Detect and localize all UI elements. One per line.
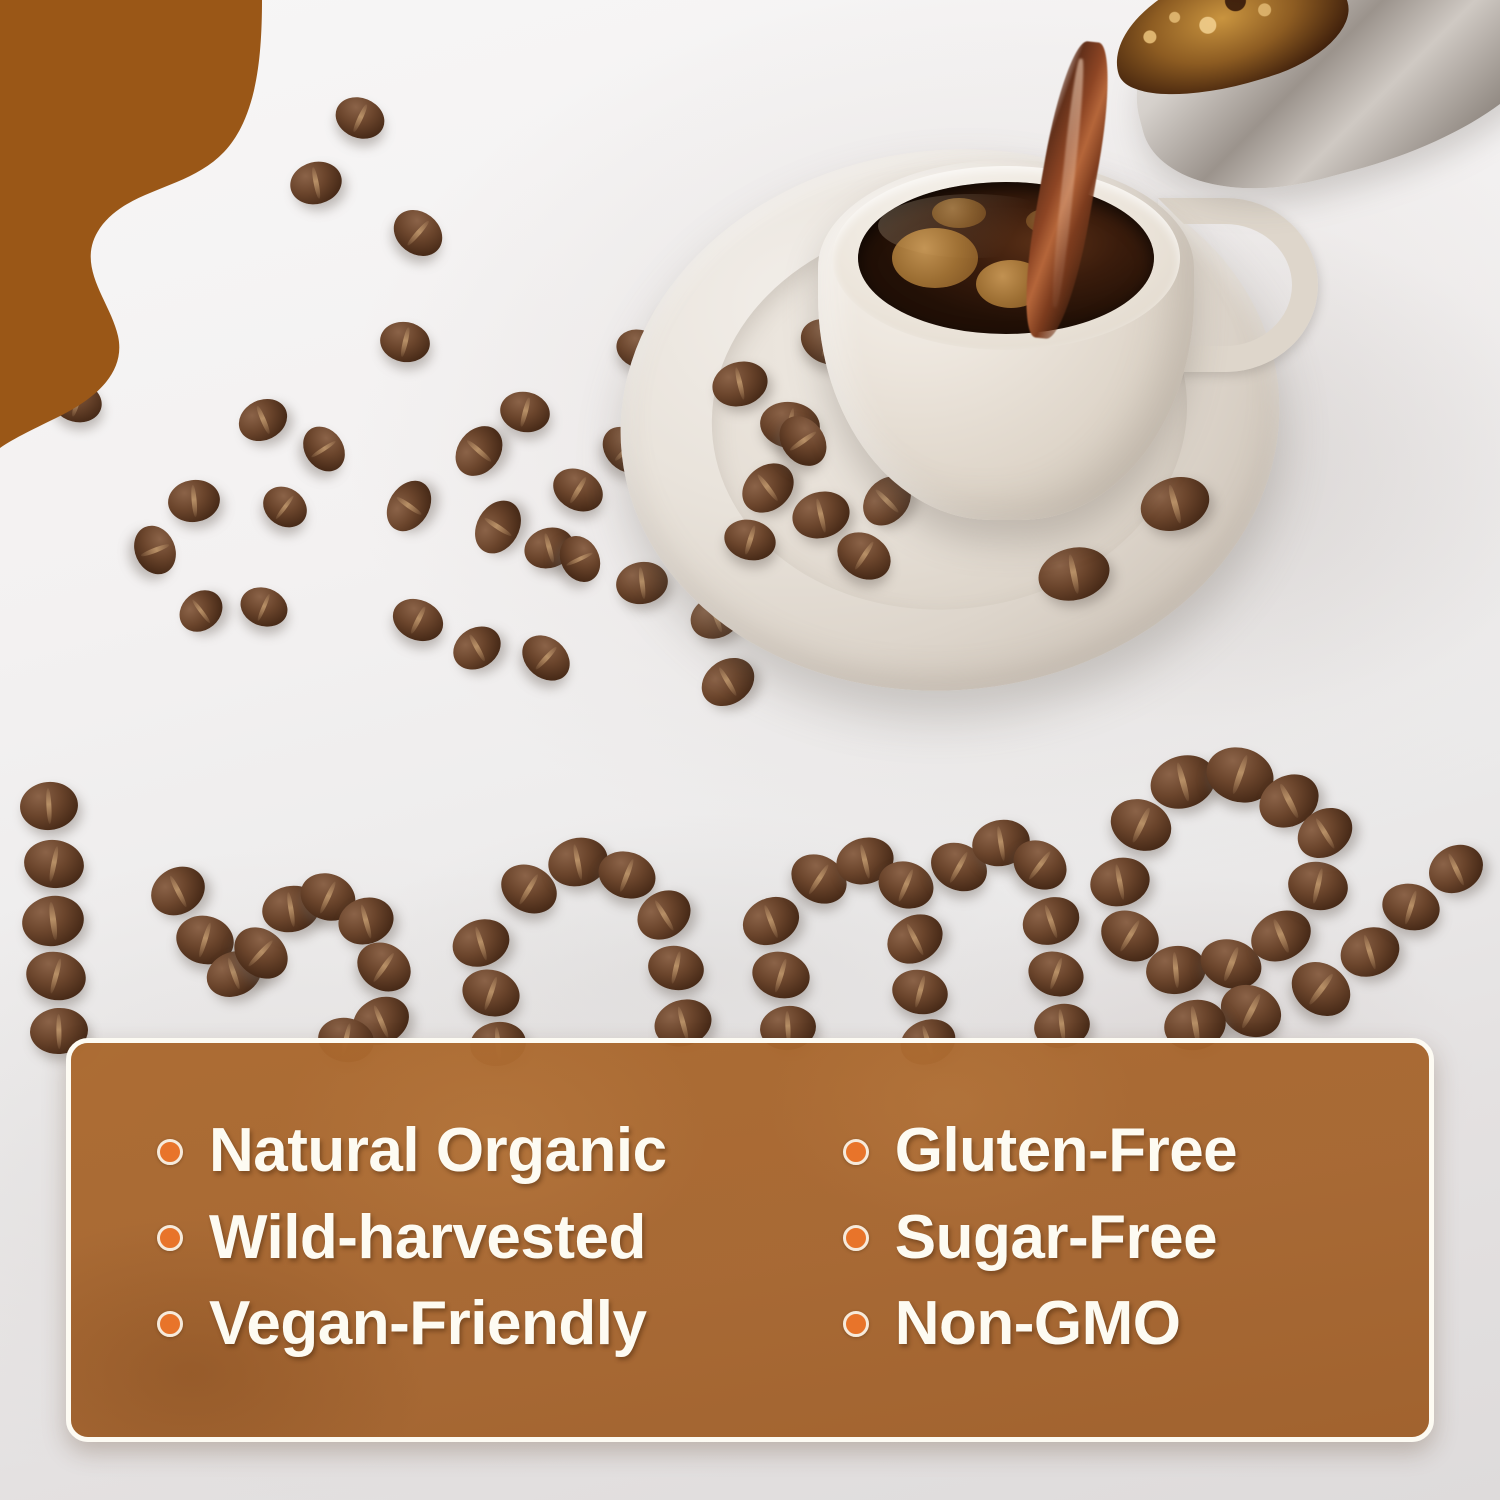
brown-wave-blob-icon [0, 0, 300, 460]
left-column: Natural Organic Wild-harvested Vegan-Fri… [71, 1119, 791, 1356]
feature-label: Natural Organic [209, 1119, 667, 1183]
crema-foam [932, 198, 986, 228]
feature-panel: Natural Organic Wild-harvested Vegan-Fri… [66, 1038, 1434, 1442]
feature-label: Vegan-Friendly [209, 1292, 646, 1356]
feature-label: Non-GMO [895, 1292, 1181, 1356]
feature-item[interactable]: Natural Organic [157, 1119, 791, 1183]
crema-foam [892, 228, 978, 288]
product-feature-image: Natural Organic Wild-harvested Vegan-Fri… [0, 0, 1500, 1500]
bullet-circle-icon [157, 1225, 183, 1251]
feature-item[interactable]: Non-GMO [843, 1292, 1429, 1356]
bullet-circle-icon [157, 1139, 183, 1165]
feature-item[interactable]: Vegan-Friendly [157, 1292, 791, 1356]
feature-label: Gluten-Free [895, 1119, 1237, 1183]
feature-item[interactable]: Wild-harvested [157, 1206, 791, 1270]
right-column: Gluten-Free Sugar-Free Non-GMO [791, 1119, 1429, 1356]
coffee-surface [858, 182, 1154, 334]
feature-label: Wild-harvested [209, 1206, 646, 1270]
bullet-circle-icon [843, 1139, 869, 1165]
feature-label: Sugar-Free [895, 1206, 1217, 1270]
bullet-circle-icon [843, 1311, 869, 1337]
feature-item[interactable]: Sugar-Free [843, 1206, 1429, 1270]
feature-item[interactable]: Gluten-Free [843, 1119, 1429, 1183]
feature-grid: Natural Organic Wild-harvested Vegan-Fri… [71, 1043, 1429, 1437]
bullet-circle-icon [843, 1225, 869, 1251]
bullet-circle-icon [157, 1311, 183, 1337]
